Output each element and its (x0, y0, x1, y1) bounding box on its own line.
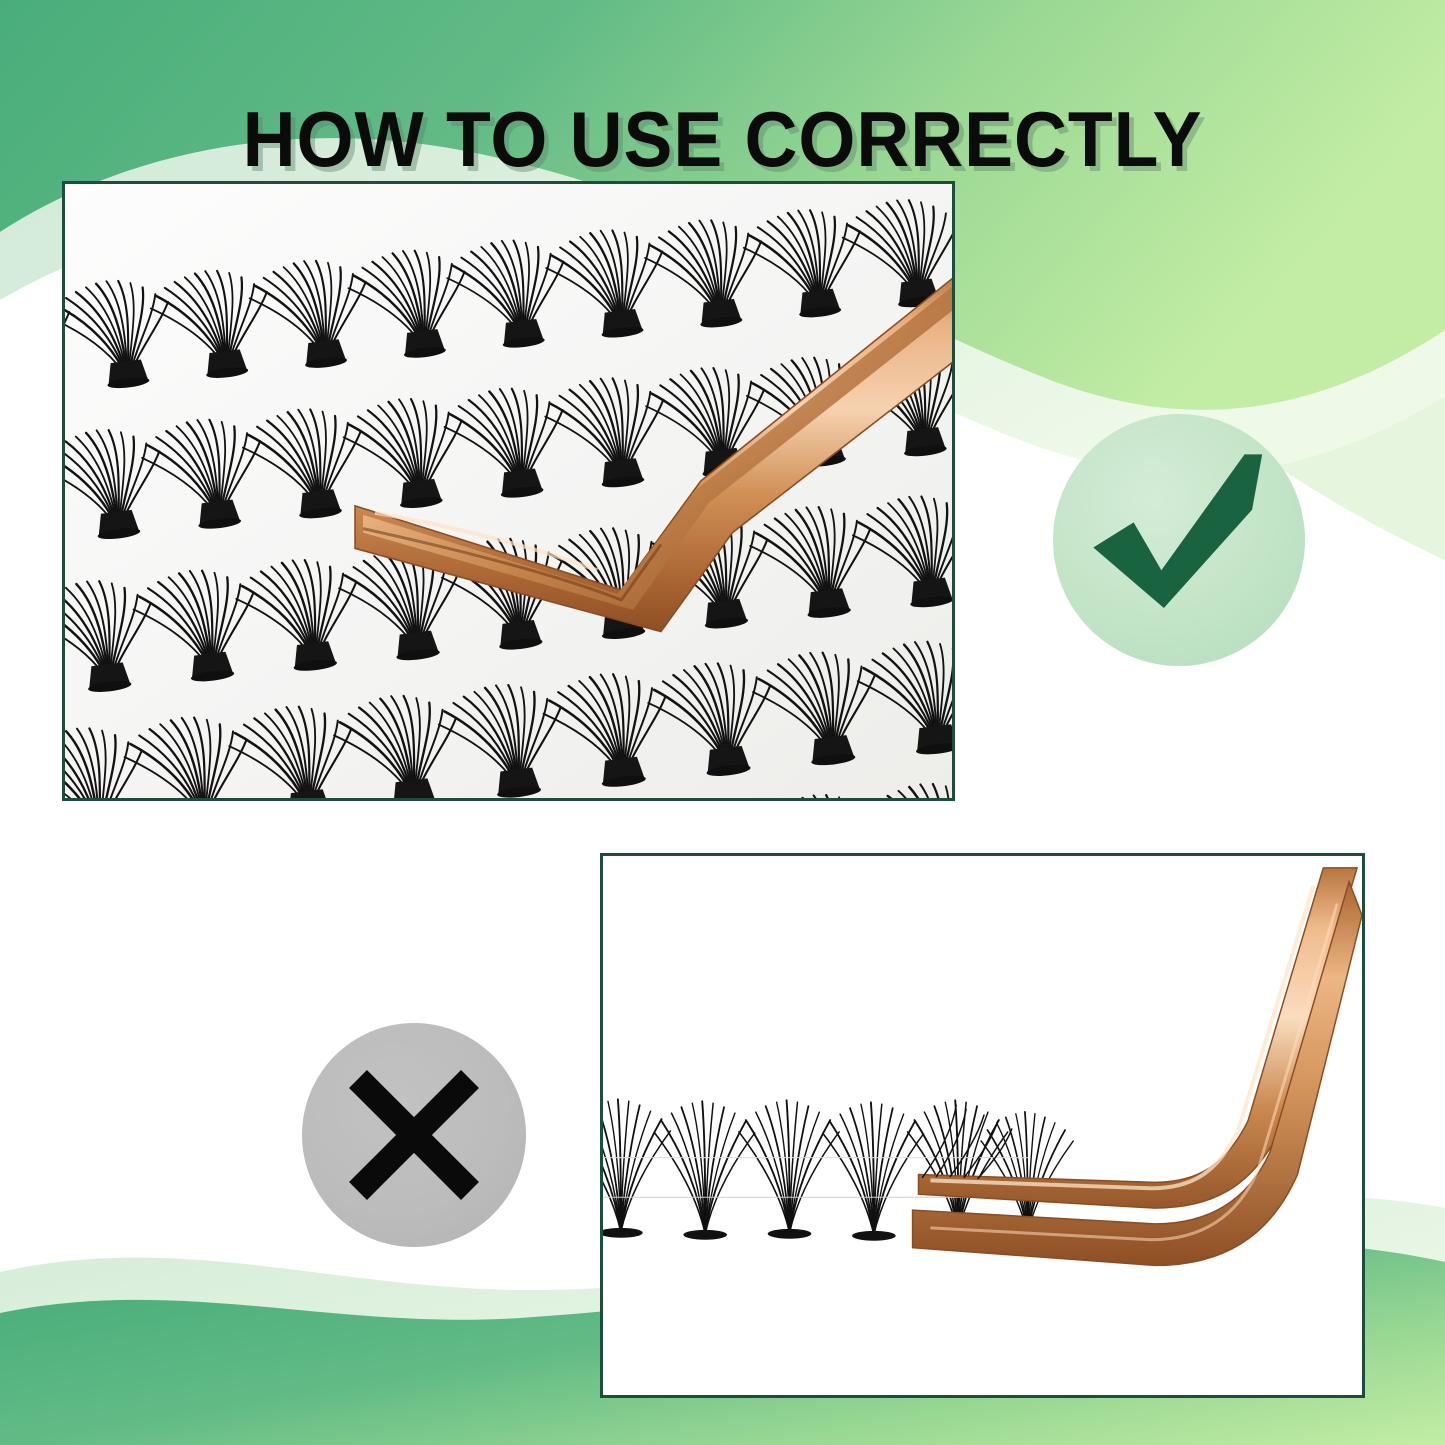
cross-icon (302, 1023, 526, 1247)
poster-canvas: HOW TO USE CORRECTLY (0, 0, 1445, 1445)
status-badge-correct (1053, 414, 1305, 666)
page-title: HOW TO USE CORRECTLY (243, 100, 1203, 180)
correct-usage-photo (62, 181, 955, 801)
page-title-container: HOW TO USE CORRECTLY (0, 48, 1445, 232)
check-icon (1053, 414, 1305, 666)
status-badge-incorrect (302, 1023, 526, 1247)
incorrect-usage-photo (600, 853, 1365, 1398)
lash-tray-illustration (65, 184, 952, 798)
lash-row-illustration (603, 856, 1362, 1395)
